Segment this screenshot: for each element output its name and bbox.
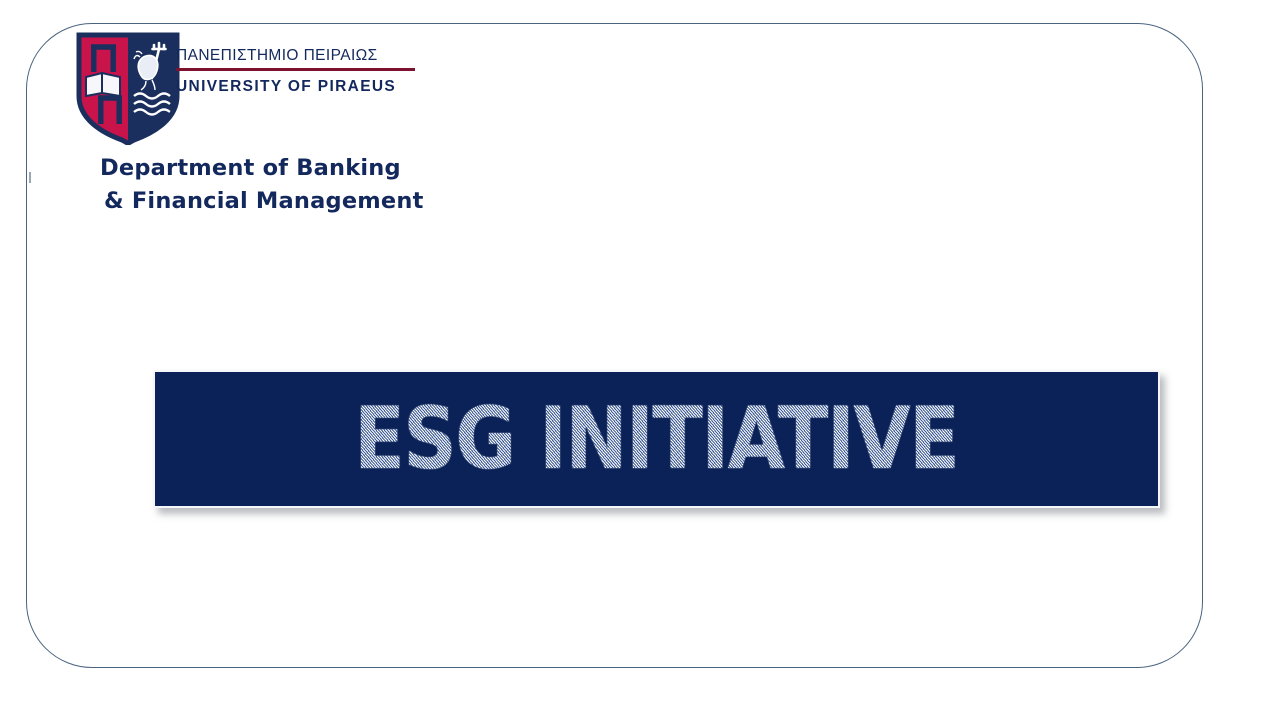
esg-initiative-title: ESG INITIATIVE [354, 396, 958, 482]
wordmark-divider [176, 68, 415, 71]
university-of-piraeus-crest-icon [76, 32, 180, 145]
university-name-greek: ΠΑΝΕΠΙΣΤΗΜΙΟ ΠΕΙΡΑΙΩΣ [176, 47, 426, 64]
department-heading-line-2: & Financial Management [100, 185, 560, 218]
esg-initiative-banner: ESG INITIATIVE [153, 370, 1160, 508]
university-wordmark: ΠΑΝΕΠΙΣΤΗΜΙΟ ΠΕΙΡΑΙΩΣ UNIVERSITY OF PIRA… [176, 47, 426, 95]
department-heading: Department of Banking & Financial Manage… [100, 152, 560, 219]
university-logo: ΠΑΝΕΠΙΣΤΗΜΙΟ ΠΕΙΡΑΙΩΣ UNIVERSITY OF PIRA… [76, 32, 426, 147]
slide-canvas: ΠΑΝΕΠΙΣΤΗΜΙΟ ΠΕΙΡΑΙΩΣ UNIVERSITY OF PIRA… [0, 0, 1280, 720]
university-name-english: UNIVERSITY OF PIRAEUS [176, 78, 426, 95]
frame-tick-artifact [29, 172, 31, 183]
department-heading-line-1: Department of Banking [100, 152, 560, 185]
